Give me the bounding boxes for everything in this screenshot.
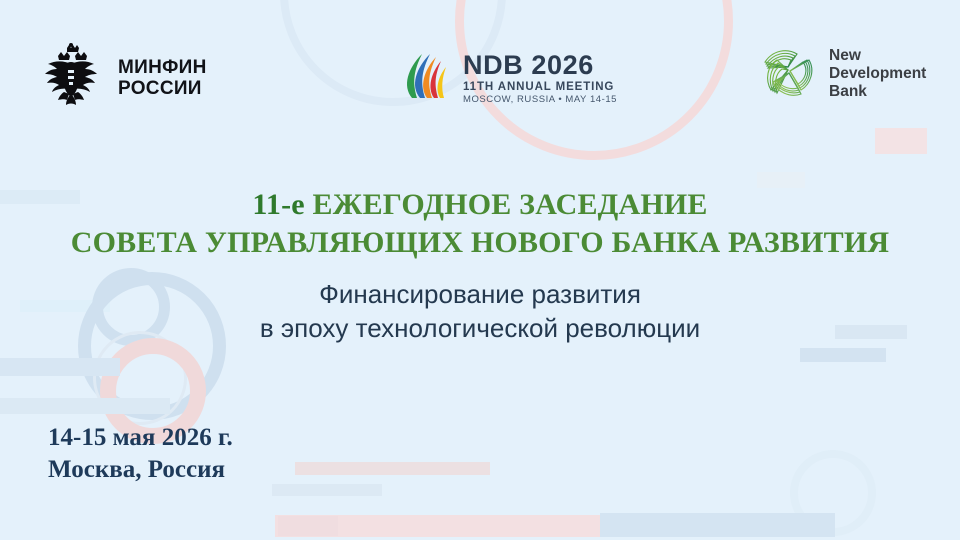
- russian-double-headed-eagle-emblem-icon: [38, 42, 104, 113]
- new-development-bank-logo: New Development Bank: [757, 40, 926, 107]
- ndb-bank-line-2: Development: [829, 65, 926, 83]
- ndb-bank-line-1: New: [829, 47, 926, 65]
- decorative-bar-bottom-pink-3: [278, 516, 338, 536]
- event-edition-number: 11-е: [252, 188, 304, 221]
- ndb-event-text: NDB 2026 11TH ANNUAL MEETING MOSCOW, RUS…: [463, 51, 617, 106]
- decorative-ring-blue-thin: [93, 331, 187, 425]
- decorative-bar-left-2: [0, 398, 170, 414]
- event-meta: 14-15 мая 2026 г. Москва, Россия: [48, 422, 233, 486]
- ndb-green-knot-icon: [757, 40, 819, 107]
- decorative-bar-left-1: [0, 358, 120, 376]
- ndb-event-details: MOSCOW, RUSSIA • MAY 14-15: [463, 94, 617, 106]
- event-title: 11-е ЕЖЕГОДНОЕ ЗАСЕДАНИЕ СОВЕТА УПРАВЛЯЮ…: [0, 186, 960, 262]
- logo-header: МИНФИН РОССИИ NDB 2026 11TH ANNUAL MEETI…: [0, 0, 960, 130]
- new-development-bank-text: New Development Bank: [829, 47, 926, 101]
- event-title-line-1: 11-е ЕЖЕГОДНОЕ ЗАСЕДАНИЕ: [0, 186, 960, 224]
- ndb-event-logo: NDB 2026 11TH ANNUAL MEETING MOSCOW, RUS…: [396, 48, 617, 109]
- decorative-rect-pink-right: [875, 128, 927, 154]
- minfin-line-2: РОССИИ: [118, 78, 207, 99]
- decorative-bar-bottom-pink-2: [295, 462, 490, 475]
- decorative-bar-right-2: [800, 348, 886, 362]
- minfin-line-1: МИНФИН: [118, 57, 207, 78]
- conference-banner: МИНФИН РОССИИ NDB 2026 11TH ANNUAL MEETI…: [0, 0, 960, 540]
- ndb-event-title: NDB 2026: [463, 51, 617, 79]
- minfin-logo: МИНФИН РОССИИ: [38, 42, 207, 113]
- event-location: Москва, Россия: [48, 454, 233, 486]
- decorative-bar-bottom-pink: [275, 515, 605, 537]
- decorative-bar-bottom-blue: [600, 513, 835, 537]
- ndb-bank-line-3: Bank: [829, 83, 926, 101]
- event-title-line-1-rest: ЕЖЕГОДНОЕ ЗАСЕДАНИЕ: [305, 188, 708, 221]
- event-subtitle-line-1: Финансирование развития: [0, 277, 960, 311]
- decorative-bar-bottom-blue-2: [272, 484, 382, 496]
- multicolor-flame-icon: [396, 48, 452, 109]
- event-subtitle-line-2: в эпоху технологической революции: [0, 311, 960, 345]
- ndb-event-subtitle: 11TH ANNUAL MEETING: [463, 80, 617, 94]
- event-subtitle: Финансирование развития в эпоху технолог…: [0, 277, 960, 345]
- event-dates: 14-15 мая 2026 г.: [48, 422, 233, 454]
- event-title-line-2: СОВЕТА УПРАВЛЯЮЩИХ НОВОГО БАНКА РАЗВИТИЯ: [0, 224, 960, 262]
- decorative-ring-bottom-right: [790, 450, 876, 536]
- minfin-logo-text: МИНФИН РОССИИ: [118, 57, 207, 99]
